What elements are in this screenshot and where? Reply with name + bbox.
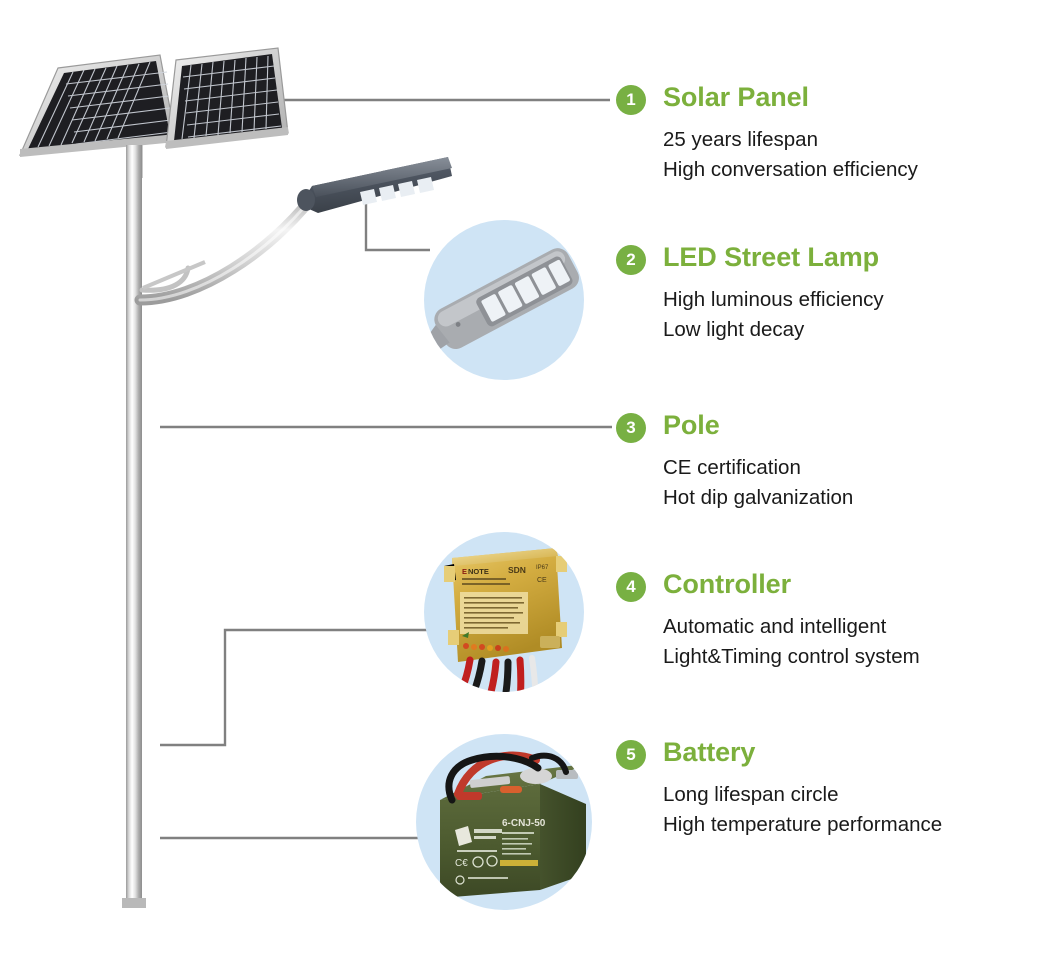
badge-number-5: 5	[616, 740, 646, 770]
infographic-root: E NOTE SDN IP67 CE	[0, 0, 1060, 962]
callout-title-solar-panel: Solar Panel	[663, 82, 918, 112]
svg-text:6-CNJ-50: 6-CNJ-50	[502, 818, 546, 829]
callout-line: Low light decay	[663, 315, 884, 345]
badge-number-2: 2	[616, 245, 646, 275]
curved-pole-arm	[140, 200, 310, 300]
leader-line-lamp	[366, 198, 430, 250]
svg-text:C€: C€	[455, 858, 468, 869]
badge-number-4: 4	[616, 572, 646, 602]
callout-line: CE certification	[663, 453, 853, 483]
svg-text:SDN: SDN	[508, 565, 526, 575]
badge-number-1: 1	[616, 85, 646, 115]
callout-line: Light&Timing control system	[663, 642, 920, 672]
callout-battery: 5 Battery Long lifespan circle High temp…	[616, 737, 942, 840]
svg-text:E: E	[462, 567, 467, 576]
callout-line: Hot dip galvanization	[663, 483, 853, 513]
leader-lines	[160, 100, 612, 838]
callout-pole: 3 Pole CE certification Hot dip galvaniz…	[616, 410, 853, 513]
callout-led-street-lamp: 2 LED Street Lamp High luminous efficien…	[616, 242, 884, 345]
callout-line: Automatic and intelligent	[663, 612, 920, 642]
callout-line: High temperature performance	[663, 810, 942, 840]
callout-title-pole: Pole	[663, 410, 853, 440]
callout-title-controller: Controller	[663, 569, 920, 599]
solar-panel-left	[20, 55, 176, 157]
svg-text:NOTE: NOTE	[468, 567, 489, 576]
svg-text:CE: CE	[537, 577, 547, 584]
callout-line: High conversation efficiency	[663, 155, 918, 185]
controller-photo: E NOTE SDN IP67 CE	[424, 532, 584, 722]
led-lamp-head	[297, 157, 452, 213]
solar-panel-array	[20, 48, 288, 180]
led-street-lamp-photo	[416, 220, 584, 380]
callout-line: 25 years lifespan	[663, 125, 918, 155]
callout-line: High luminous efficiency	[663, 285, 884, 315]
callout-line: Long lifespan circle	[663, 780, 942, 810]
leader-line-controller	[160, 630, 432, 745]
callout-title-led-street-lamp: LED Street Lamp	[663, 242, 884, 272]
solar-panel-right	[166, 48, 288, 149]
badge-number-3: 3	[616, 413, 646, 443]
callout-solar-panel: 1 Solar Panel 25 years lifespan High con…	[616, 82, 918, 185]
svg-text:IP67: IP67	[536, 565, 549, 571]
callout-controller: 4 Controller Automatic and intelligent L…	[616, 569, 920, 672]
vertical-pole	[122, 145, 146, 908]
battery-photo: 6-CNJ-50 C€	[416, 734, 592, 910]
callout-title-battery: Battery	[663, 737, 942, 767]
